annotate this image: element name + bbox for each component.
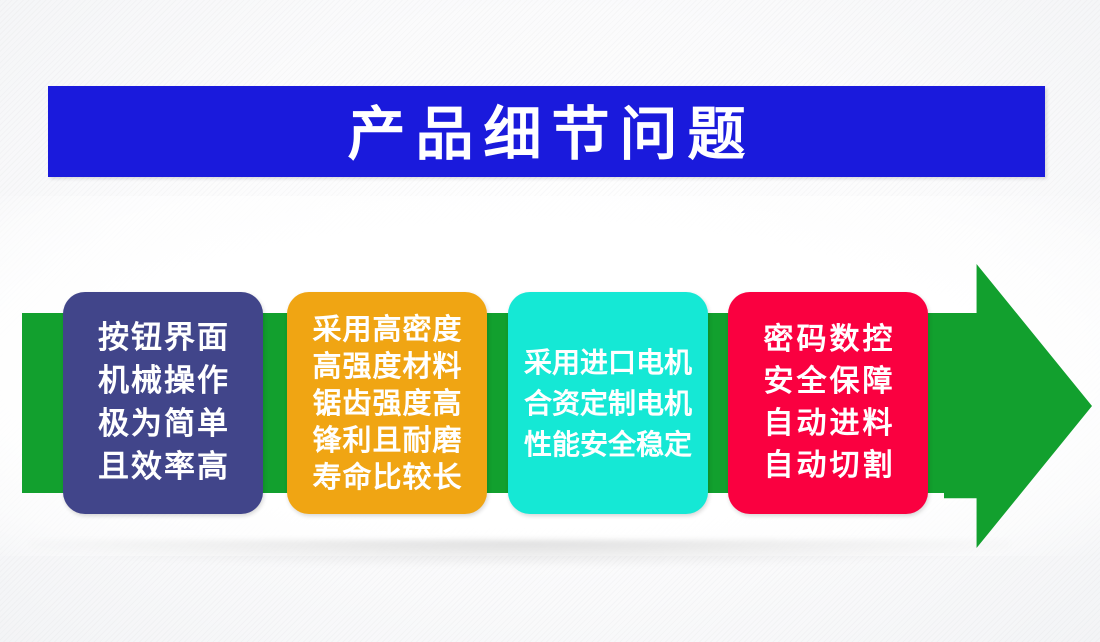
feature-card-line: 极为简单 bbox=[96, 403, 230, 446]
feature-card-control[interactable]: 密码数控 安全保障 自动进料 自动切割 bbox=[728, 292, 928, 514]
feature-card-line: 按钮界面 bbox=[96, 317, 230, 360]
title-banner: 产品细节问题 bbox=[48, 86, 1045, 177]
feature-card-line: 采用进口电机 bbox=[524, 342, 692, 383]
feature-card-motor[interactable]: 采用进口电机 合资定制电机 性能安全稳定 bbox=[508, 292, 708, 514]
feature-card-line: 锯齿强度高 bbox=[311, 385, 462, 422]
feature-card-line: 密码数控 bbox=[761, 319, 896, 361]
feature-card-button-interface[interactable]: 按钮界面 机械操作 极为简单 且效率高 bbox=[63, 292, 263, 514]
feature-card-line: 性能安全稳定 bbox=[524, 424, 692, 465]
feature-card-line: 自动切割 bbox=[761, 445, 896, 487]
feature-card-line: 自动进料 bbox=[761, 403, 896, 445]
feature-card-line: 机械操作 bbox=[96, 360, 230, 403]
feature-card-line: 锋利且耐磨 bbox=[311, 422, 462, 459]
feature-card-line: 采用高密度 bbox=[311, 311, 462, 348]
band-ground-shadow bbox=[30, 540, 1010, 566]
feature-card-line: 高强度材料 bbox=[311, 348, 462, 385]
feature-card-material[interactable]: 采用高密度 高强度材料 锯齿强度高 锋利且耐磨 寿命比较长 bbox=[287, 292, 487, 514]
feature-card-line: 安全保障 bbox=[761, 361, 896, 403]
feature-card-line: 且效率高 bbox=[96, 446, 230, 489]
feature-card-line: 合资定制电机 bbox=[524, 383, 692, 424]
page-title: 产品细节问题 bbox=[48, 88, 1045, 179]
slide-canvas: 产品细节问题 按钮界面 机械操作 极为简单 且效率高 采用高密度 高强度材料 锯… bbox=[0, 0, 1100, 642]
feature-card-line: 寿命比较长 bbox=[311, 459, 462, 496]
